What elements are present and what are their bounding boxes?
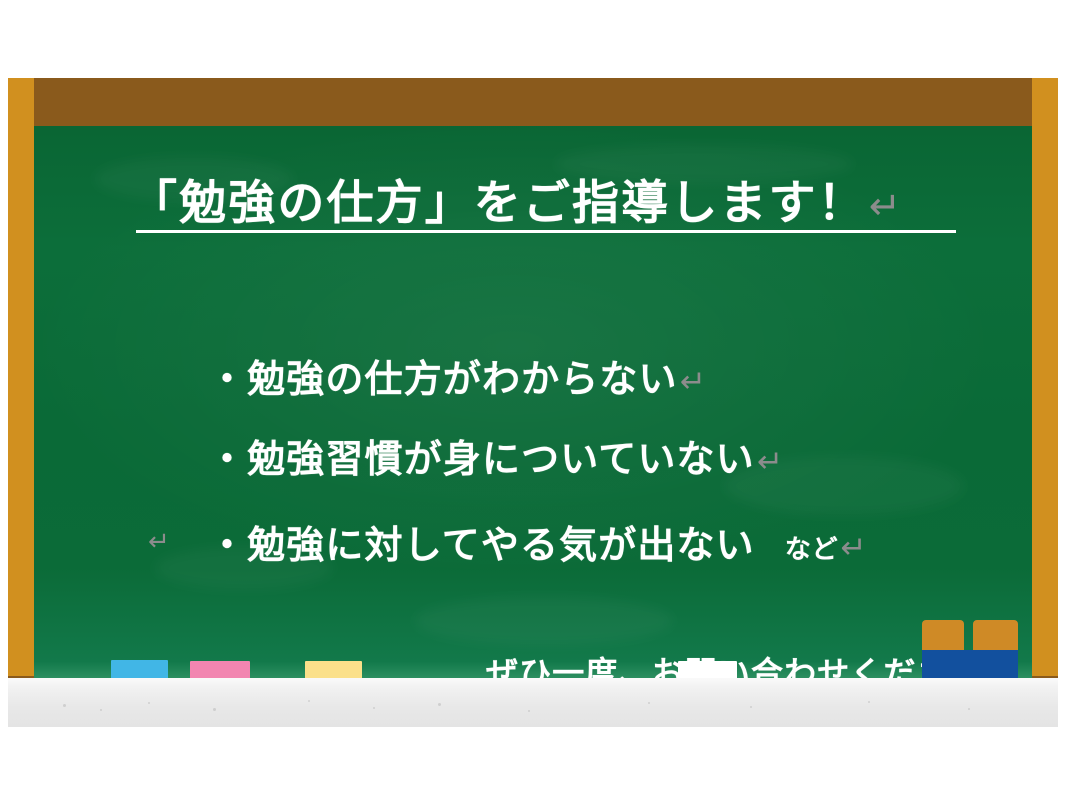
title-return-mark: ↵ <box>869 185 903 228</box>
frame-left-rail <box>8 78 34 680</box>
chalkboard-surface: 「勉強の仕方」をご指導します！↵ ・勉強の仕方がわからない↵ ・勉強習慣が身につ… <box>34 126 1032 678</box>
white-chalk[interactable] <box>678 661 737 679</box>
slide-title: 「勉強の仕方」をご指導します！↵ <box>130 164 903 233</box>
bullet-item-3: ・勉強に対してやる気が出ないなど↵ <box>208 514 868 569</box>
tray-dust-speck <box>100 709 102 711</box>
chalk-tray <box>8 678 1058 727</box>
bullet-item-2: ・勉強習慣が身についていない↵ <box>208 428 784 483</box>
tray-dust-speck <box>968 708 970 710</box>
bullet-item-3-suffix: など <box>785 534 839 564</box>
bullet-item-3-text: ・勉強に対してやる気が出ない <box>208 525 755 567</box>
pink-chalk[interactable] <box>190 661 250 679</box>
slide-canvas: 「勉強の仕方」をご指導します！↵ ・勉強の仕方がわからない↵ ・勉強習慣が身につ… <box>0 0 1066 800</box>
tray-dust-speck <box>528 710 530 712</box>
bullet-item-1-return-mark: ↵ <box>680 364 707 399</box>
bullet-item-2-return-mark: ↵ <box>757 444 784 479</box>
blackboard-frame: 「勉強の仕方」をご指導します！↵ ・勉強の仕方がわからない↵ ・勉強習慣が身につ… <box>8 78 1058 680</box>
bullet-item-1: ・勉強の仕方がわからない↵ <box>208 348 707 403</box>
eraser-felt-base <box>922 650 1018 679</box>
eraser-top-right-block <box>973 620 1018 651</box>
bullet-item-3-return-mark: ↵ <box>840 530 867 565</box>
slide-title-text: 「勉強の仕方」をご指導します！ <box>130 164 867 233</box>
frame-right-rail <box>1032 78 1058 680</box>
eraser-top-left-block <box>922 620 964 651</box>
tray-dust-speck <box>63 704 66 707</box>
slide-title-underline <box>136 230 956 233</box>
tray-dust-speck <box>750 706 752 708</box>
bullet-item-1-text: ・勉強の仕方がわからない <box>208 359 678 401</box>
tray-dust-speck <box>213 708 216 711</box>
tray-dust-speck <box>308 700 310 702</box>
yellow-chalk[interactable] <box>305 661 362 679</box>
blue-chalk[interactable] <box>111 660 168 679</box>
tray-dust-speck <box>438 703 441 706</box>
bullet-item-2-text: ・勉強習慣が身についていない <box>208 439 755 481</box>
tray-dust-speck <box>648 702 650 704</box>
tray-dust-speck <box>868 701 870 703</box>
chalk-dust-smudge <box>414 596 674 646</box>
blackboard-eraser[interactable] <box>922 620 1018 679</box>
tray-dust-speck <box>148 702 150 704</box>
empty-line-return-mark: ↵ <box>148 526 170 557</box>
frame-top-rail <box>8 78 1058 126</box>
tray-dust-speck <box>373 707 375 709</box>
